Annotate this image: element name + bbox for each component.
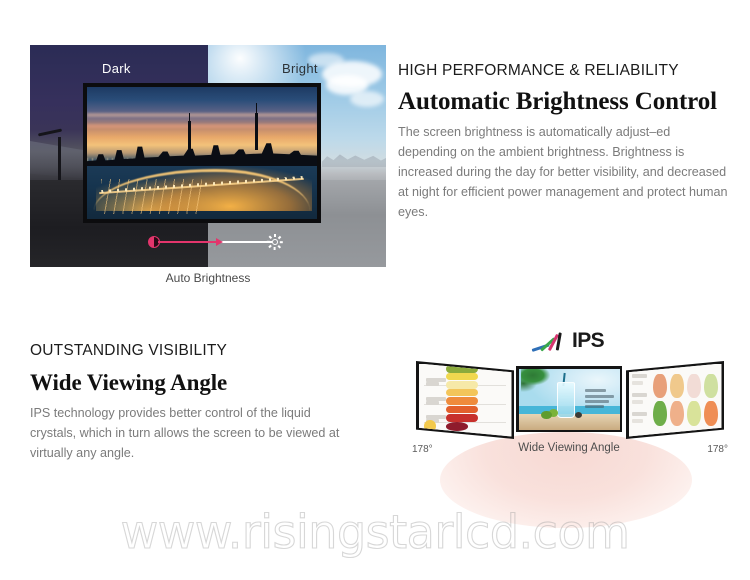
ips-logo: IPS — [532, 330, 628, 356]
viewing-angle-text-block: OUTSTANDING VISIBILITY Wide Viewing Angl… — [30, 340, 360, 464]
auto-brightness-caption: Auto Brightness — [30, 271, 386, 285]
site-watermark: www.risingstarlcd.com — [0, 505, 750, 559]
slider-track-filled — [158, 241, 220, 243]
sandwich-grid — [653, 374, 718, 427]
viewing-angle-kicker: OUTSTANDING VISIBILITY — [30, 340, 360, 361]
brightness-headline: Automatic Brightness Control — [398, 88, 728, 116]
brightness-text-block: HIGH PERFORMANCE & RELIABILITY Automatic… — [398, 60, 728, 223]
distant-skyline — [322, 149, 386, 167]
auto-brightness-image: Dark Bright — [30, 45, 386, 267]
panel-right-food-grid — [626, 361, 724, 439]
cloud-icon — [350, 91, 384, 107]
stacked-food-photos — [446, 365, 483, 435]
ips-wordmark: IPS — [572, 329, 604, 353]
label-dark: Dark — [102, 61, 131, 76]
display-screen-content — [87, 87, 317, 219]
tower — [255, 113, 258, 150]
brightness-kicker: HIGH PERFORMANCE & RELIABILITY — [398, 60, 728, 81]
drink-glass — [557, 382, 575, 418]
wide-viewing-angle-caption: Wide Viewing Angle — [404, 442, 734, 454]
sun-brightness-icon — [268, 235, 282, 249]
display-panel-mockup — [83, 83, 321, 223]
wide-viewing-angle-image: IPS — [404, 328, 734, 503]
slider-handle[interactable] — [216, 238, 223, 246]
promo-page: Dark Bright — [0, 0, 750, 580]
ips-fan-icon — [532, 334, 576, 352]
viewing-angle-body: IPS technology provides better control o… — [30, 404, 360, 464]
tower — [188, 121, 191, 150]
ad-copy-lines — [585, 389, 615, 411]
brightness-body: The screen brightness is automatically a… — [398, 123, 728, 222]
label-bright: Bright — [282, 61, 318, 76]
viewing-angle-headline: Wide Viewing Angle — [30, 370, 360, 396]
street-lamp — [58, 137, 61, 209]
brightness-slider[interactable] — [142, 235, 282, 249]
panel-center-beach-ad — [516, 366, 622, 432]
panel-left-menu-board — [416, 361, 514, 439]
slider-track-empty — [220, 241, 272, 243]
